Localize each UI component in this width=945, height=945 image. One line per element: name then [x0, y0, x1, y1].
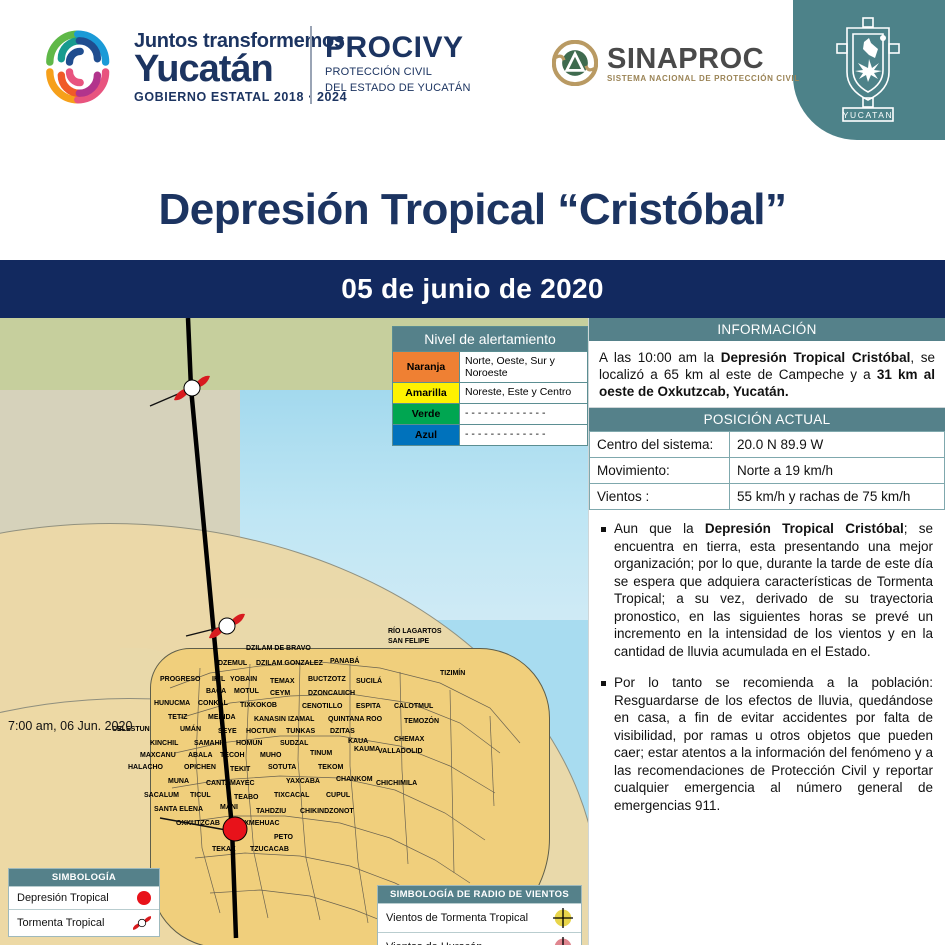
legend-row-tormenta: Tormenta Tropical: [9, 909, 159, 936]
table-row: Movimiento: Norte a 19 km/h: [590, 458, 945, 484]
position-key-vientos: Vientos :: [590, 484, 730, 510]
legend-label-depresion: Depresión Tropical: [17, 892, 109, 904]
alert-table-header: Nivel de alertamiento: [393, 327, 587, 351]
alert-regions-naranja: Norte, Oeste, Sur y Noroeste: [459, 352, 587, 382]
alert-level-amarilla: Amarilla: [393, 383, 459, 403]
table-row: Centro del sistema: 20.0 N 89.9 W: [590, 432, 945, 458]
title-band: Depresión Tropical “Cristóbal”: [0, 160, 945, 260]
alert-row-naranja: Naranja Norte, Oeste, Sur y Noroeste: [393, 351, 587, 382]
legend-label-ts-winds: Vientos de Tormenta Tropical: [386, 912, 528, 924]
bullet1-b: Depresión Tropical Cristóbal: [705, 521, 904, 536]
information-panel: INFORMACIÓN A las 10:00 am la Depresión …: [588, 318, 945, 945]
symbology-header: SIMBOLOGÍA: [9, 869, 159, 886]
procivy-title: PROCIVY: [325, 32, 471, 64]
legend-label-hurricane-winds: Vientos de Huracán: [386, 941, 482, 945]
bullet-square-icon: [601, 527, 606, 532]
procivy-logo: PROCIVY PROTECCIÓN CIVIL DEL ESTADO DE Y…: [325, 32, 471, 95]
table-row: Vientos : 55 km/h y rachas de 75 km/h: [590, 484, 945, 510]
wind-radius-legend: SIMBOLOGÍA DE RADIO DE VIENTOS Vientos d…: [377, 885, 582, 945]
legend-row-hurricane-winds: Vientos de Huracán: [378, 932, 581, 945]
yucatan-government-period: GOBIERNO ESTATAL 2018 · 2024: [134, 90, 347, 104]
position-key-centro: Centro del sistema:: [590, 432, 730, 458]
legend-label-tormenta: Tormenta Tropical: [17, 917, 104, 929]
sinaproc-subtitle: SISTEMA NACIONAL DE PROTECCIÓN CIVIL: [607, 74, 800, 83]
alert-level-naranja: Naranja: [393, 352, 459, 382]
alert-regions-amarilla: Noreste, Este y Centro: [459, 383, 587, 403]
information-text: A las 10:00 am la Depresión Tropical Cri…: [589, 341, 945, 408]
info-text-b: Depresión Tropical Cristóbal: [721, 350, 911, 365]
header-divider: [310, 26, 312, 104]
position-table: Centro del sistema: 20.0 N 89.9 W Movimi…: [589, 431, 945, 510]
date-band: 05 de junio de 2020: [0, 260, 945, 318]
symbology-legend: SIMBOLOGÍA Depresión Tropical Tormenta T…: [8, 868, 160, 937]
alert-row-verde: Verde - - - - - - - - - - - - -: [393, 403, 587, 424]
yellow-wind-radius-icon: [553, 908, 573, 928]
advisory-date: 05 de junio de 2020: [341, 273, 603, 305]
yucatan-name: Yucatán: [134, 50, 347, 88]
alert-regions-azul: - - - - - - - - - - - - -: [459, 425, 587, 445]
sinaproc-logo: SINAPROC SISTEMA NACIONAL DE PROTECCIÓN …: [552, 40, 800, 86]
alert-level-verde: Verde: [393, 404, 459, 424]
red-circle-icon: [137, 891, 151, 905]
advisory-page: Juntos transformemos Yucatán GOBIERNO ES…: [0, 0, 945, 945]
header-bar: Juntos transformemos Yucatán GOBIERNO ES…: [0, 0, 945, 160]
pink-wind-radius-icon: [553, 937, 573, 945]
page-title: Depresión Tropical “Cristóbal”: [158, 185, 786, 235]
alert-level-azul: Azul: [393, 425, 459, 445]
wind-symbology-header: SIMBOLOGÍA DE RADIO DE VIENTOS: [378, 886, 581, 903]
recommendations-list: Aun que la Depresión Tropical Cristóbal;…: [589, 510, 945, 834]
sinaproc-emblem-icon: [552, 40, 598, 86]
legend-row-depresion: Depresión Tropical: [9, 886, 159, 909]
position-value-movimiento: Norte a 19 km/h: [730, 458, 945, 484]
procivy-subtitle-line1: PROTECCIÓN CIVIL: [325, 66, 471, 80]
position-value-vientos: 55 km/h y rachas de 75 km/h: [730, 484, 945, 510]
alert-level-table: Nivel de alertamiento Naranja Norte, Oes…: [392, 326, 588, 446]
legend-row-ts-winds: Vientos de Tormenta Tropical: [378, 903, 581, 932]
info-text-a: A las 10:00 am la: [599, 350, 721, 365]
yucatan-coat-of-arms: YUCATAN: [831, 14, 905, 124]
bullet-square-icon: [601, 681, 606, 686]
tropical-storm-icon: [133, 914, 151, 932]
bullet-text-2: Por lo tanto se recomienda a la població…: [614, 674, 933, 814]
position-header: POSICIÓN ACTUAL: [589, 408, 945, 431]
procivy-subtitle-line2: DEL ESTADO DE YUCATÁN: [325, 82, 471, 96]
alert-row-azul: Azul - - - - - - - - - - - - -: [393, 424, 587, 445]
sinaproc-title: SINAPROC: [607, 44, 800, 74]
position-key-movimiento: Movimiento:: [590, 458, 730, 484]
bullet1-c: ; se encuentra en tierra, esta presentan…: [614, 521, 933, 659]
bullet1-a: Aun que la: [614, 521, 705, 536]
shield-label: YUCATAN: [843, 110, 894, 120]
yucatan-wordmark: Juntos transformemos Yucatán GOBIERNO ES…: [134, 30, 347, 104]
yucatan-ribbons-logo: [36, 26, 126, 108]
alert-row-amarilla: Amarilla Noreste, Este y Centro: [393, 382, 587, 403]
bullet-text-1: Aun que la Depresión Tropical Cristóbal;…: [614, 520, 933, 660]
track-label-1: 7:00 am, 06 Jun. 2020: [8, 719, 132, 733]
list-item: Aun que la Depresión Tropical Cristóbal;…: [601, 520, 933, 660]
list-item: Por lo tanto se recomienda a la població…: [601, 674, 933, 814]
alert-regions-verde: - - - - - - - - - - - - -: [459, 404, 587, 424]
position-value-centro: 20.0 N 89.9 W: [730, 432, 945, 458]
information-header: INFORMACIÓN: [589, 318, 945, 341]
current-position-marker: [223, 817, 247, 841]
